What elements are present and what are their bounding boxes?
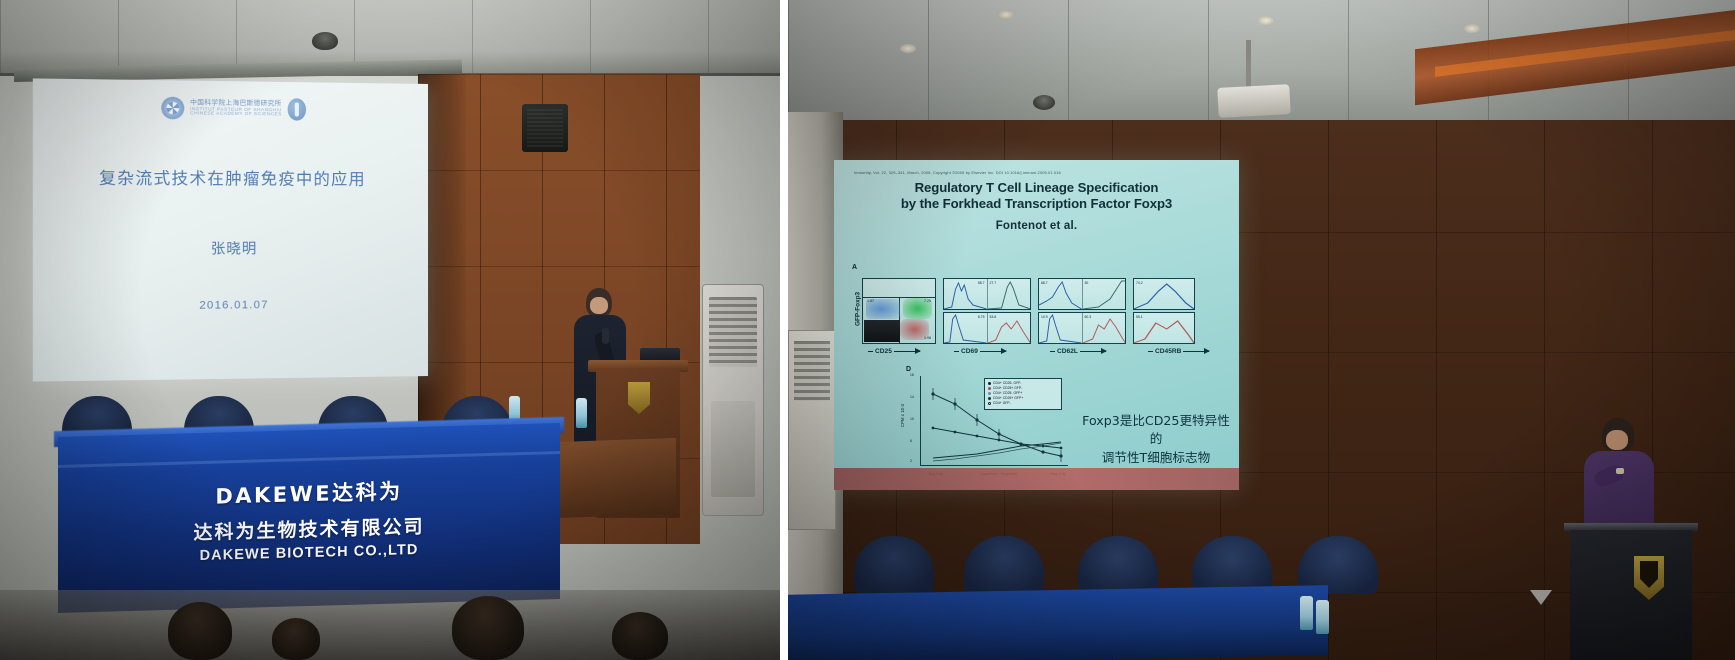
projection-screen: Immunity, Vol. 22, 329–341, March, 2005,… <box>834 160 1239 490</box>
pasteur-leaf-icon <box>288 98 306 120</box>
pasteur-emblem-icon <box>161 97 184 120</box>
gate-value: 53.8 <box>990 315 997 319</box>
histogram-row: 8.75 53.8 <box>943 312 1031 344</box>
handheld-microphone-icon <box>602 328 609 344</box>
sponsor-banner: DAKEWE达科为 达科为生物技术有限公司 DAKEWE BIOTECH CO.… <box>58 471 560 568</box>
histogram-group-cd69: 58.7 27.7 8.75 53.8 <box>943 278 1031 344</box>
wall-speaker-icon <box>522 104 568 152</box>
legend-label: CD4+ GFP- <box>993 401 1011 406</box>
audience-head <box>272 618 320 660</box>
gate-value: 68.7 <box>1041 281 1048 285</box>
annotation-line1: Foxp3是比CD25更特异性的 <box>1080 412 1232 449</box>
histogram-row: 55.1 <box>1133 312 1195 344</box>
gate-value: 27.7 <box>990 281 997 285</box>
downlight-icon <box>1258 16 1274 25</box>
paper-authors: Fontenot et al. <box>844 220 1229 232</box>
chart-y-tick: 10 <box>910 417 914 421</box>
dark-podium <box>1570 530 1692 660</box>
gate-value: 30 <box>1085 281 1089 285</box>
photo-collage: 中国科学院上海巴斯德研究所 INSTITUT PASTEUR OF SHANGH… <box>0 0 1735 660</box>
downlight-icon <box>1464 24 1480 33</box>
chart-y-tick: 14 <box>910 395 914 399</box>
slide-annotation: Foxp3是比CD25更特异性的 调节性T细胞标志物 <box>1080 412 1232 467</box>
x-axis-label-cd25: CD25 <box>875 348 892 355</box>
panel-a-tag: A <box>852 264 857 271</box>
audience-head <box>452 596 524 660</box>
ceiling-projector <box>1217 84 1290 118</box>
legend-item: CD4+ GFP- <box>988 401 1058 406</box>
x-axis-label-cd45rb: CD45RB <box>1155 348 1181 355</box>
gate-value: 74.2 <box>1136 281 1143 285</box>
dot-plot: 1.87 7.25 50.4 1.98 <box>862 278 936 344</box>
chart-y-tick: 2 <box>910 459 912 463</box>
histogram-row: 68.7 30 <box>1038 278 1126 310</box>
quadrant-value: 1.98 <box>924 336 931 340</box>
floor-air-conditioner <box>702 284 764 516</box>
wristwatch-icon <box>1616 468 1624 474</box>
histogram-row: 10.9 60.3 <box>1038 312 1126 344</box>
lecture-hall-photo-left: 中国科学院上海巴斯德研究所 INSTITUT PASTEUR OF SHANGH… <box>0 0 780 660</box>
paper-title-line1: Regulatory T Cell Lineage Specification <box>915 180 1159 195</box>
water-bottle <box>576 398 587 428</box>
annotation-line2: 调节性T细胞标志物 <box>1080 449 1232 467</box>
gate-value: 10.9 <box>1041 315 1048 319</box>
water-bottle <box>1300 596 1313 630</box>
lecture-hall-photo-right: Immunity, Vol. 22, 329–341, March, 2005,… <box>788 0 1735 660</box>
histogram-group-cd62l: 68.7 30 10.9 60.3 <box>1038 278 1126 344</box>
histogram-row: 74.2 <box>1133 278 1195 310</box>
gate-value: 55.1 <box>1136 315 1143 319</box>
paper-title-line2: by the Forkhead Transcription Factor Fox… <box>901 196 1172 211</box>
gate-value: 60.3 <box>1085 315 1092 319</box>
x-axis-label-row: CD25 CD69 CD62L CD45 <box>862 348 1238 362</box>
projection-screen: 中国科学院上海巴斯德研究所 INSTITUT PASTEUR OF SHANGH… <box>33 78 428 381</box>
projector-mount <box>1246 40 1251 90</box>
gate-value: 8.75 <box>978 315 985 319</box>
chart-y-tick: 18 <box>910 373 914 377</box>
slide-org-logo: 中国科学院上海巴斯德研究所 INSTITUT PASTEUR OF SHANGH… <box>48 95 414 122</box>
gate-value: 58.7 <box>978 281 985 285</box>
quadrant-value: 7.25 <box>924 299 931 303</box>
chart-legend: CD4+ CD25- GFP- CD4+ CD25+ GFP- CD4+ CD2… <box>984 378 1062 410</box>
audience-head <box>612 612 668 660</box>
floor-air-conditioner <box>788 330 836 530</box>
podium-marker-icon <box>1530 590 1552 605</box>
slide-footer-bar <box>834 468 1239 490</box>
histogram-row: 58.7 27.7 <box>943 278 1031 310</box>
x-axis-label-cd69: CD69 <box>961 348 978 355</box>
quadrant-value: 1.87 <box>867 299 874 303</box>
flow-cytometry-panel-row: 1.87 7.25 50.4 1.98 58.7 27.7 <box>862 278 1234 344</box>
histogram-group-cd45rb: 74.2 55.1 <box>1133 278 1195 344</box>
paper-citation: Immunity, Vol. 22, 329–341, March, 2005,… <box>854 170 1229 175</box>
panel-d-tag: D <box>906 366 911 373</box>
side-table <box>556 438 676 518</box>
slide-title: 复杂流式技术在肿瘤免疫中的应用 <box>48 164 414 190</box>
dome-camera-icon <box>1033 95 1055 110</box>
head-table-cloth <box>788 585 1328 660</box>
downlight-icon <box>998 10 1014 19</box>
org-name-en2: CHINESE ACADEMY OF SCIENCES <box>190 112 282 118</box>
downlight-icon <box>900 44 916 53</box>
quadrant-value: 50.4 <box>867 321 874 325</box>
audience-head <box>168 602 232 660</box>
chart-y-tick: 6 <box>910 439 912 443</box>
slide-date: 2016.01.07 <box>48 298 414 313</box>
x-axis-label-cd62l: CD62L <box>1057 348 1078 355</box>
slide-author: 张晓明 <box>48 238 414 259</box>
dome-camera-icon <box>312 32 338 50</box>
water-bottle <box>1316 600 1329 634</box>
chart-y-label: CPM x 10-3 <box>900 404 905 427</box>
